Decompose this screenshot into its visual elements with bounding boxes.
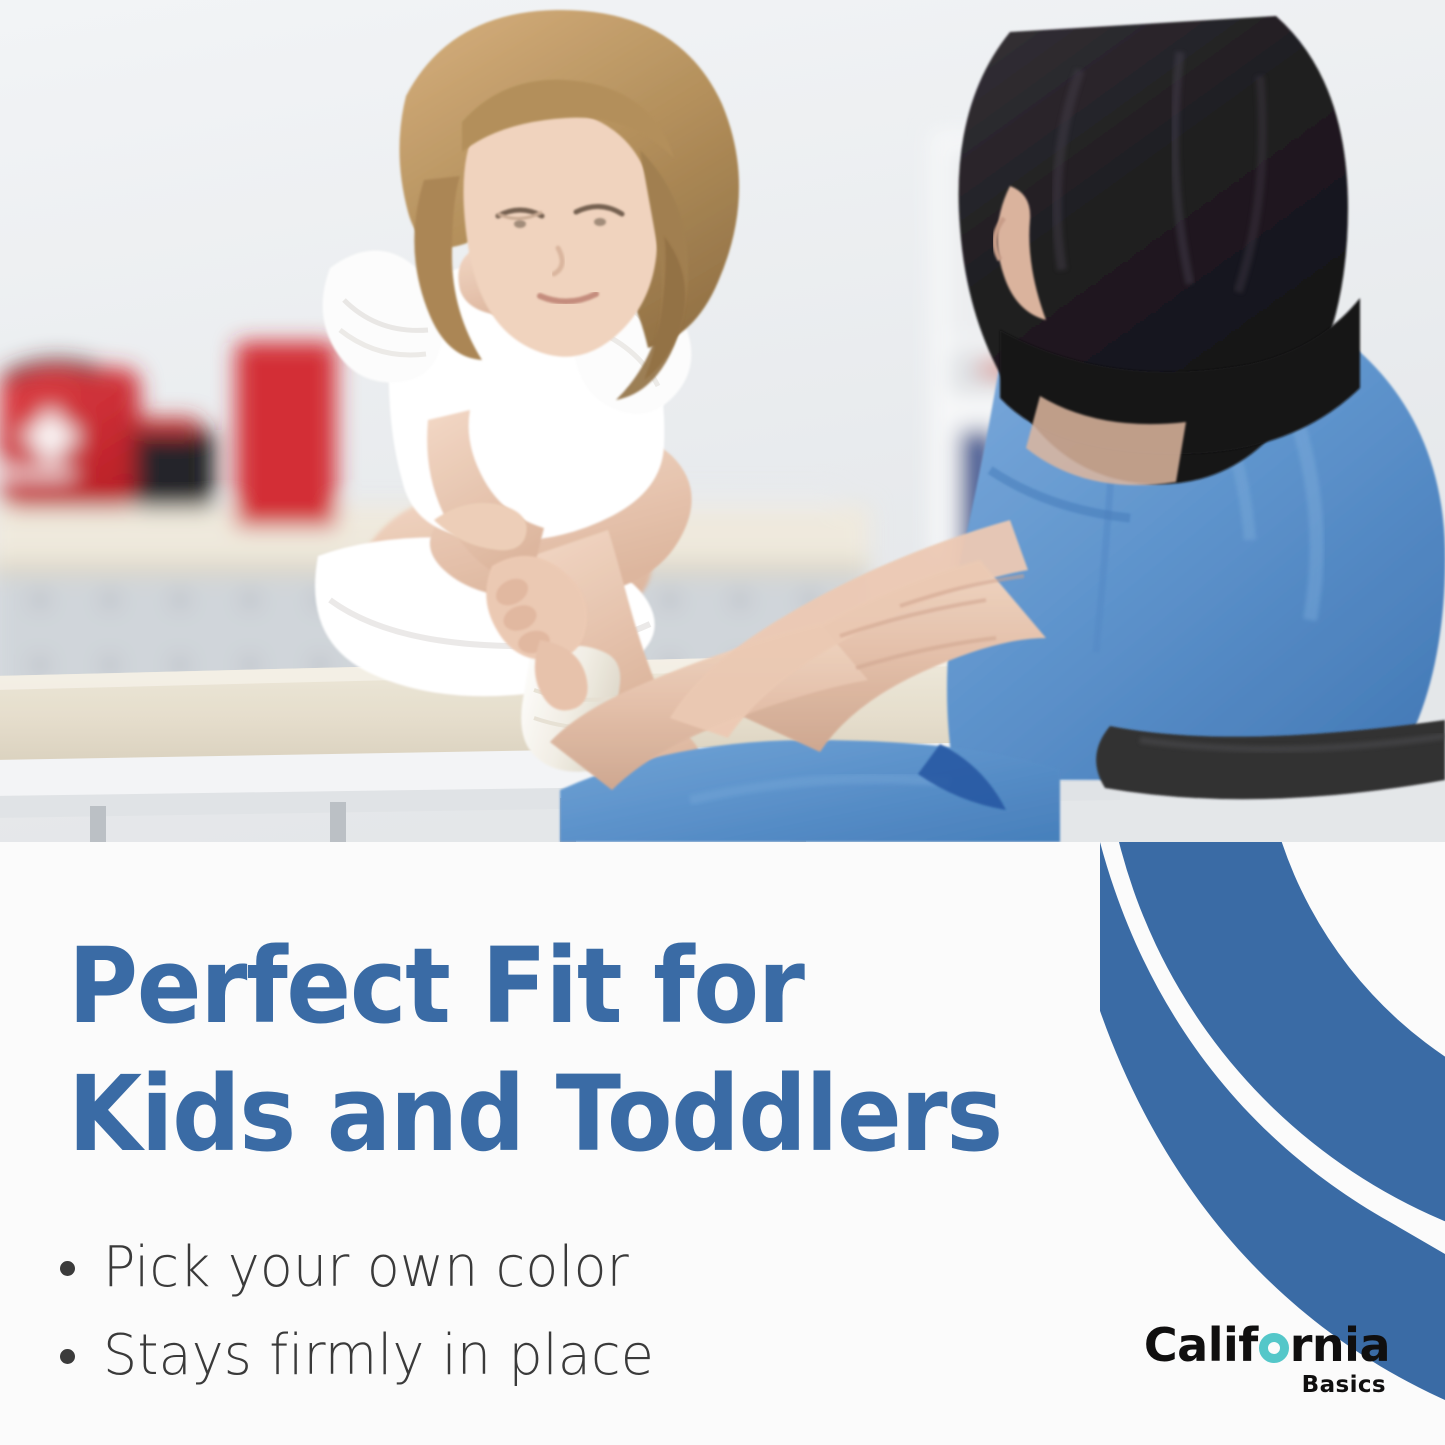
hero-photo bbox=[0, 0, 1445, 842]
list-item: Stays firmly in place bbox=[60, 1322, 960, 1390]
clinic-scene-illustration bbox=[0, 0, 1445, 842]
page-title: Perfect Fit for Kids and Toddlers bbox=[68, 922, 1078, 1178]
brand-name: Califrnia bbox=[1128, 1320, 1390, 1370]
teal-ring-o-icon bbox=[1259, 1333, 1289, 1363]
feature-label: Pick your own color bbox=[103, 1234, 629, 1302]
headline-line-1: Perfect Fit for bbox=[68, 922, 997, 1050]
bullet-dot-icon bbox=[60, 1261, 75, 1276]
bullet-dot-icon bbox=[60, 1349, 75, 1364]
brand-name-part2: rnia bbox=[1290, 1318, 1390, 1372]
list-item: Pick your own color bbox=[60, 1234, 960, 1302]
headline-line-2: Kids and Toddlers bbox=[68, 1050, 997, 1178]
feature-label: Stays firmly in place bbox=[103, 1322, 654, 1390]
brand-logo: Califrnia Basics bbox=[1128, 1320, 1390, 1400]
brand-subtitle: Basics bbox=[1128, 1372, 1386, 1398]
brand-name-part1: Calif bbox=[1144, 1318, 1258, 1372]
product-marketing-image: Perfect Fit for Kids and Toddlers Pick y… bbox=[0, 0, 1445, 1445]
feature-list: Pick your own color Stays firmly in plac… bbox=[60, 1234, 960, 1410]
